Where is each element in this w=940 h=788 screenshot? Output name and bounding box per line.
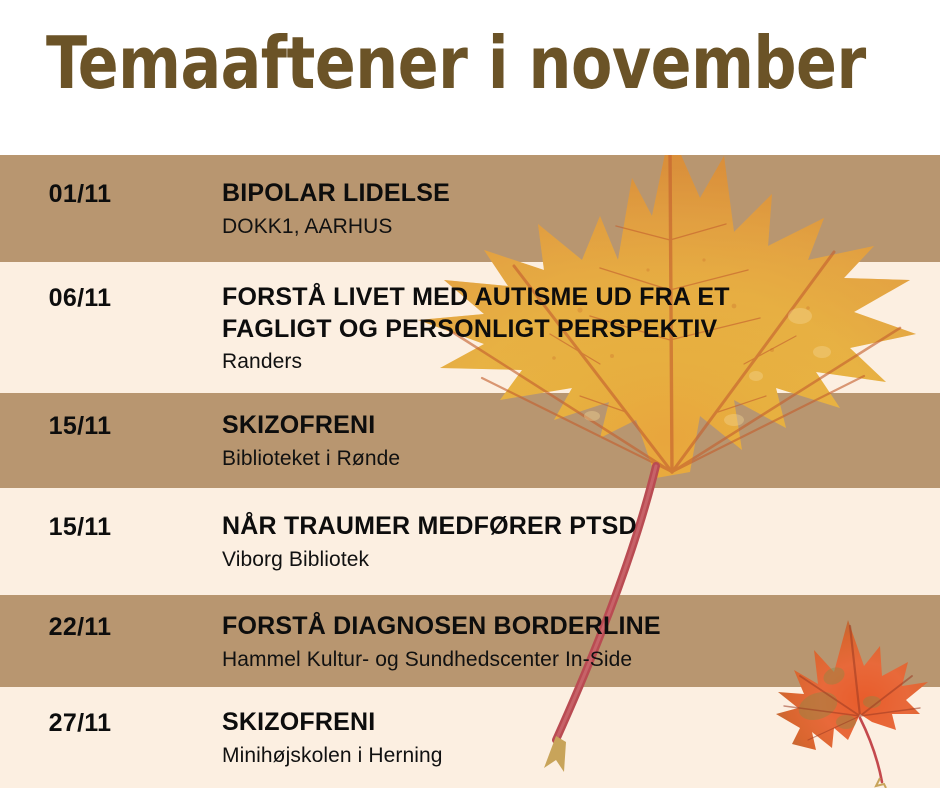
schedule-row-band: [0, 595, 940, 687]
schedule-row-band: [0, 262, 940, 393]
page-title: Temaaftener i november: [46, 24, 866, 103]
schedule-row-band: [0, 488, 940, 595]
poster-canvas: 01/11BIPOLAR LIDELSEDOKK1, AARHUS06/11FO…: [0, 0, 940, 788]
schedule-row-band: [0, 155, 940, 262]
schedule-row-band: [0, 687, 940, 788]
schedule-row-band: [0, 393, 940, 488]
title-band: Temaaftener i november: [0, 0, 940, 155]
